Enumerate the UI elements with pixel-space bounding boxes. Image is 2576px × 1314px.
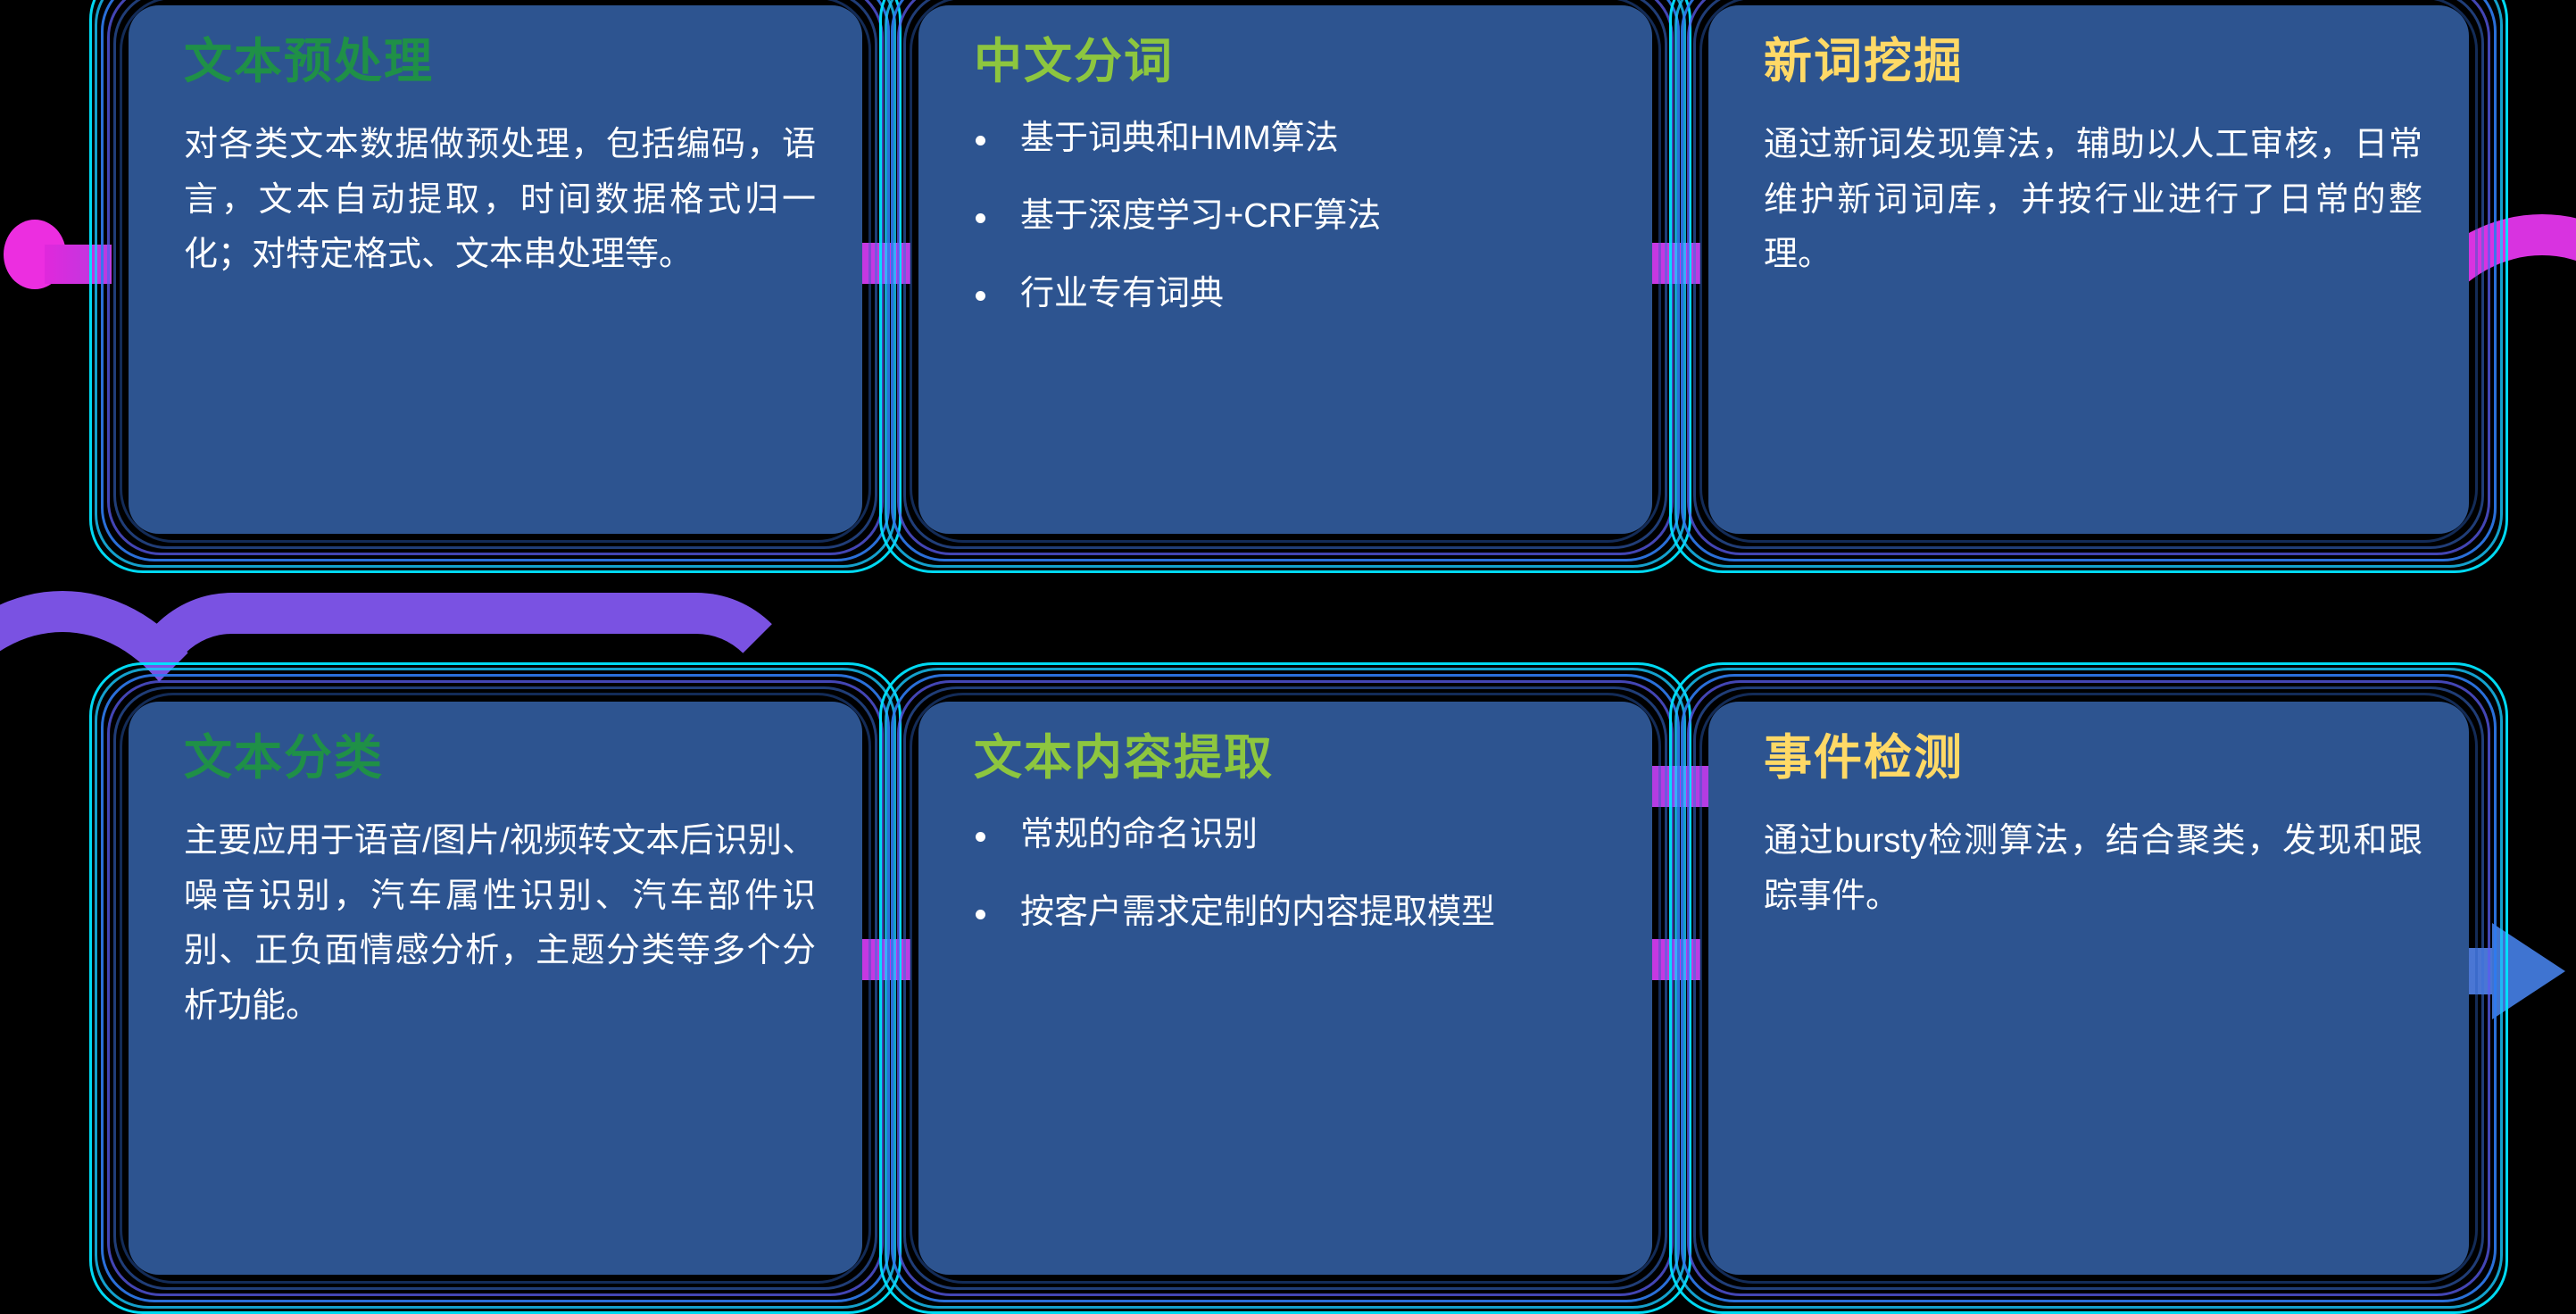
card-description: 对各类文本数据做预处理，包括编码，语言，文本自动提取，时间数据格式归一化；对特定…	[184, 118, 816, 283]
card-body: 新词挖掘 通过新词发现算法，辅助以人工审核，日常维护新词词库，并按行业进行了日常…	[1708, 5, 2469, 534]
card-title: 新词挖掘	[1764, 36, 1964, 88]
card-description: 通过bursty检测算法，结合聚类，发现和跟踪事件。	[1764, 814, 2422, 924]
card-body: 事件检测 通过bursty检测算法，结合聚类，发现和跟踪事件。	[1708, 702, 2469, 1275]
card-body: 文本预处理 对各类文本数据做预处理，包括编码，语言，文本自动提取，时间数据格式归…	[129, 5, 862, 534]
card-description: 通过新词发现算法，辅助以人工审核，日常维护新词词库，并按行业进行了日常的整理。	[1764, 118, 2422, 283]
card-title: 中文分词	[974, 36, 1174, 88]
card-bullet-list: 常规的命名识别 按客户需求定制的内容提取模型	[963, 811, 1616, 966]
card-title: 文本内容提取	[974, 732, 1274, 785]
list-item: 行业专有词典	[963, 270, 1616, 319]
list-item: 基于词典和HMM算法	[963, 114, 1616, 163]
card-event-detection[interactable]: 事件检测 通过bursty检测算法，结合聚类，发现和跟踪事件。	[1669, 662, 2508, 1314]
card-description: 主要应用于语音/图片/视频转文本后识别、噪音识别，汽车属性识别、汽车部件识别、正…	[184, 814, 816, 1034]
card-title: 事件检测	[1764, 732, 1964, 785]
card-text-preprocessing[interactable]: 文本预处理 对各类文本数据做预处理，包括编码，语言，文本自动提取，时间数据格式归…	[89, 0, 902, 573]
card-body: 文本内容提取 常规的命名识别 按客户需求定制的内容提取模型	[918, 702, 1652, 1275]
diagram-canvas: 文本预处理 对各类文本数据做预处理，包括编码，语言，文本自动提取，时间数据格式归…	[0, 0, 2576, 1277]
list-item: 常规的命名识别	[963, 811, 1616, 860]
card-chinese-word-segmentation[interactable]: 中文分词 基于词典和HMM算法 基于深度学习+CRF算法 行业专有词典	[879, 0, 1691, 573]
list-item: 按客户需求定制的内容提取模型	[963, 888, 1616, 937]
card-title: 文本预处理	[184, 36, 434, 88]
card-body: 文本分类 主要应用于语音/图片/视频转文本后识别、噪音识别，汽车属性识别、汽车部…	[129, 702, 862, 1275]
list-item: 基于深度学习+CRF算法	[963, 192, 1616, 241]
card-new-word-discovery[interactable]: 新词挖掘 通过新词发现算法，辅助以人工审核，日常维护新词词库，并按行业进行了日常…	[1669, 0, 2508, 573]
card-title: 文本分类	[184, 732, 384, 785]
card-body: 中文分词 基于词典和HMM算法 基于深度学习+CRF算法 行业专有词典	[918, 5, 1652, 534]
card-bullet-list: 基于词典和HMM算法 基于深度学习+CRF算法 行业专有词典	[963, 114, 1616, 347]
card-text-content-extraction[interactable]: 文本内容提取 常规的命名识别 按客户需求定制的内容提取模型	[879, 662, 1691, 1314]
card-text-classification[interactable]: 文本分类 主要应用于语音/图片/视频转文本后识别、噪音识别，汽车属性识别、汽车部…	[89, 662, 902, 1314]
